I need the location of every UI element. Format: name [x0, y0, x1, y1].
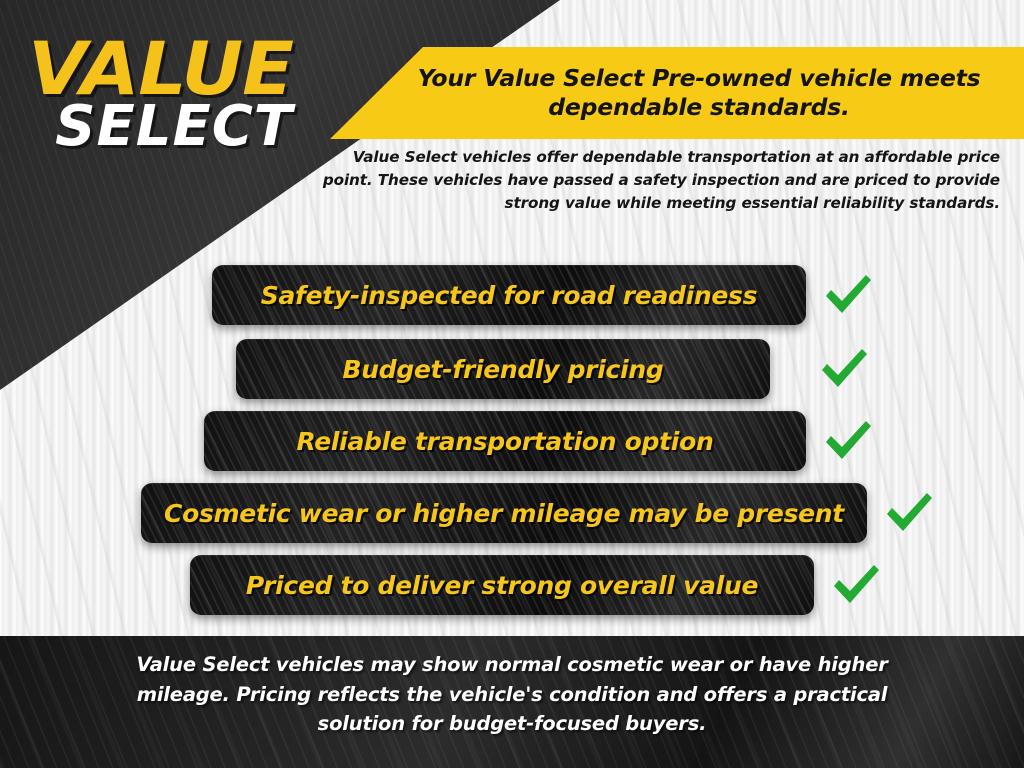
feature-bar-2: Budget-friendly pricing — [236, 339, 770, 399]
check-icon — [822, 271, 874, 319]
check-icon — [822, 417, 874, 465]
headline-text: Your Value Select Pre-owned vehicle meet… — [330, 64, 1024, 121]
feature-row-5: Priced to deliver strong overall value — [190, 555, 882, 615]
check-icon — [818, 345, 870, 393]
check-icon — [883, 489, 935, 537]
feature-label-3: Reliable transportation option — [279, 427, 732, 456]
feature-row-3: Reliable transportation option — [204, 411, 874, 471]
feature-bar-1: Safety-inspected for road readiness — [212, 265, 806, 325]
feature-label-1: Safety-inspected for road readiness — [243, 281, 775, 310]
brand-logo-value: VALUE — [28, 36, 371, 103]
value-select-banner: VALUE SELECT Your Value Select Pre-owned… — [0, 0, 1024, 768]
footer-text: Value Select vehicles may show normal co… — [97, 650, 927, 768]
feature-row-1: Safety-inspected for road readiness — [212, 265, 874, 325]
feature-label-2: Budget-friendly pricing — [325, 355, 682, 384]
feature-bar-4: Cosmetic wear or higher mileage may be p… — [141, 483, 867, 543]
intro-paragraph: Value Select vehicles offer dependable t… — [320, 146, 1000, 215]
feature-row-4: Cosmetic wear or higher mileage may be p… — [141, 483, 935, 543]
headline-banner: Your Value Select Pre-owned vehicle meet… — [330, 47, 1024, 139]
feature-bar-3: Reliable transportation option — [204, 411, 806, 471]
feature-bar-5: Priced to deliver strong overall value — [190, 555, 814, 615]
footer-band: Value Select vehicles may show normal co… — [0, 636, 1024, 768]
feature-label-5: Priced to deliver strong overall value — [228, 571, 776, 600]
brand-logo: VALUE SELECT — [28, 36, 358, 155]
feature-label-4: Cosmetic wear or higher mileage may be p… — [146, 499, 862, 528]
feature-row-2: Budget-friendly pricing — [236, 339, 870, 399]
check-icon — [830, 561, 882, 609]
